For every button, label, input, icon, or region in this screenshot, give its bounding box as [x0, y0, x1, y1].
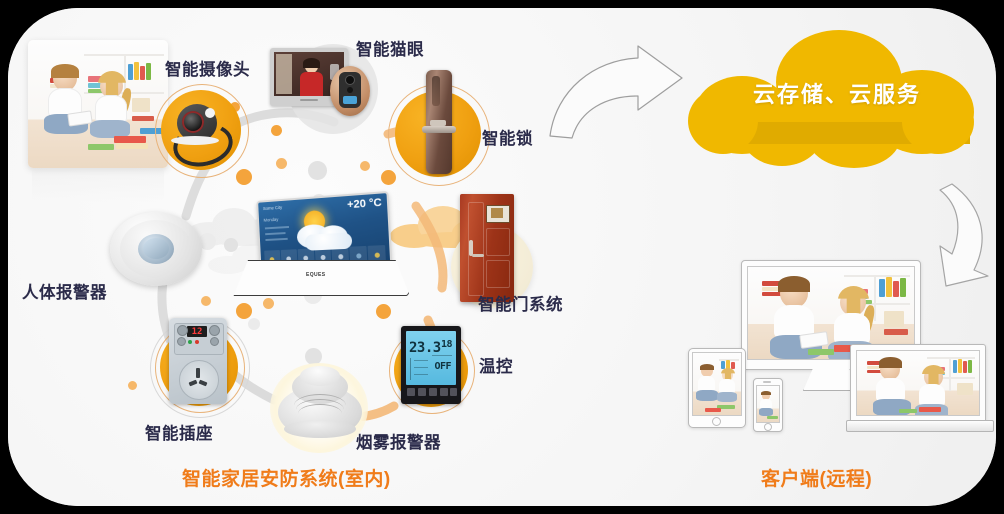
phone-earpiece	[763, 381, 771, 383]
device-label-lock: 智能锁	[482, 125, 533, 149]
device-node-smoke-detector[interactable]	[274, 364, 366, 446]
device-node-door[interactable]	[460, 194, 514, 302]
phone-home-button[interactable]	[764, 423, 772, 431]
tablet-home-button[interactable]	[712, 417, 721, 426]
decor-dot-accent	[376, 304, 391, 319]
thermostat-temperature: 23.3	[409, 340, 441, 356]
decor-dot-accent	[360, 161, 370, 171]
diagram-canvas: 智能摄像头 智能猫眼	[0, 0, 1004, 514]
decor-dot-accent	[381, 170, 396, 185]
decor-dot-accent	[236, 169, 252, 185]
tablet-screen-preview	[692, 352, 742, 416]
smart-home-hub-tablet[interactable]: Some City Monday +20 °C EQUES	[230, 196, 408, 296]
decor-dot-accent	[128, 381, 137, 390]
decor-dot-accent	[271, 125, 282, 136]
thermostat-icon: 23.3 18 OFF	[401, 326, 461, 404]
device-node-camera[interactable]	[161, 90, 241, 170]
section-title-client: 客户端(远程)	[761, 464, 872, 491]
client-device-phone[interactable]	[753, 378, 781, 430]
decor-dot	[308, 161, 327, 180]
arrow-cloud-to-client	[926, 180, 996, 290]
weather-temperature: +20 °C	[347, 197, 382, 212]
section-title-indoor: 智能家居安防系统(室内)	[182, 464, 391, 491]
device-label-smoke: 烟雾报警器	[356, 429, 441, 453]
weather-city: Some City	[263, 205, 282, 211]
decor-dot-accent	[263, 298, 274, 309]
decor-dot	[248, 318, 260, 330]
device-node-motion-sensor[interactable]	[110, 212, 202, 286]
laptop-base	[846, 420, 994, 432]
smart-lock-icon	[420, 70, 456, 178]
weather-day: Monday	[263, 217, 278, 223]
device-label-peephole: 智能猫眼	[356, 36, 424, 60]
laptop-screen-preview	[856, 350, 980, 416]
thermostat-setpoint: 18	[441, 339, 452, 350]
decor-dot-accent	[276, 158, 287, 169]
photo-child-left	[44, 66, 92, 138]
decor-dot-accent	[201, 296, 211, 306]
decor-dot-accent	[236, 303, 252, 319]
device-label-motion-sensor: 人体报警器	[22, 279, 107, 303]
smart-plug-icon: 12	[169, 318, 227, 404]
living-room-kids-photo	[28, 40, 168, 168]
hub-brand-logo: EQUES	[306, 272, 326, 278]
white-rounded-panel: 智能摄像头 智能猫眼	[8, 8, 996, 506]
device-label-camera: 智能摄像头	[165, 56, 250, 80]
device-label-thermostat: 温控	[479, 353, 513, 377]
photo-reflection	[32, 168, 164, 202]
thermostat-mode: OFF	[434, 361, 451, 372]
device-label-door: 智能门系统	[478, 291, 563, 315]
hub-dock-base	[230, 260, 410, 296]
client-device-tablet[interactable]	[688, 348, 744, 426]
cloud-service-label: 云存储、云服务	[753, 77, 921, 109]
plug-led-display: 12	[187, 326, 207, 337]
device-label-plug: 智能插座	[145, 420, 213, 444]
photo-child-right	[90, 74, 138, 140]
phone-screen-preview	[756, 385, 780, 423]
client-device-laptop[interactable]	[846, 344, 992, 430]
